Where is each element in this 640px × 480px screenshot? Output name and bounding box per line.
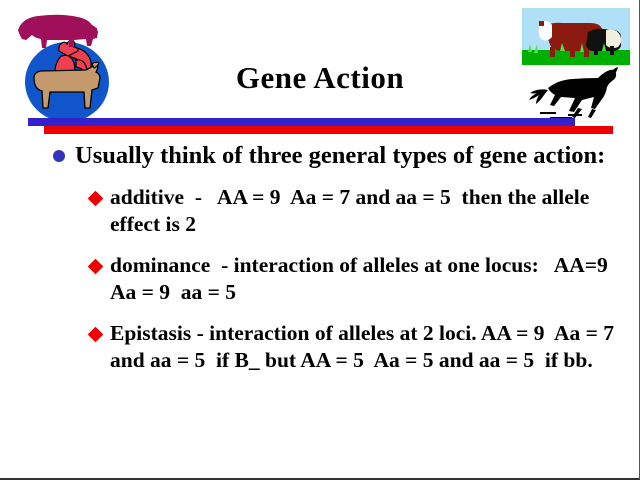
galloping-horse-silhouette — [518, 64, 636, 124]
divider-bar-red — [44, 126, 613, 134]
presentation-slide: Gene Action — [0, 0, 640, 480]
slide-body: Usually think of three general types of … — [0, 136, 640, 480]
disc-bullet-icon — [53, 150, 65, 162]
bullet-level1-item: Usually think of three general types of … — [0, 141, 640, 170]
slide-header: Gene Action — [0, 0, 640, 136]
cattle-pasture-photo — [522, 8, 630, 65]
bullet-level2-text-additive: additive - AA = 9 Aa = 7 and aa = 5 then… — [110, 184, 618, 238]
divider-bar-blue — [28, 118, 575, 126]
bullet-level2-text-epistasis: Epistasis - interaction of alleles at 2 … — [110, 320, 618, 374]
horse-body — [529, 67, 618, 118]
bullet-level1-text: Usually think of three general types of … — [75, 141, 605, 170]
diamond-bullet-icon — [88, 327, 104, 343]
bullet-level2-item-dominance: dominance - interaction of alleles at on… — [0, 252, 640, 306]
diamond-bullet-icon — [88, 191, 104, 207]
bullet-level2-text-dominance: dominance - interaction of alleles at on… — [110, 252, 618, 306]
bullet-level2-item-epistasis: Epistasis - interaction of alleles at 2 … — [0, 320, 640, 374]
diamond-bullet-icon — [88, 259, 104, 275]
bullet-level2-item-additive: additive - AA = 9 Aa = 7 and aa = 5 then… — [0, 184, 640, 238]
pig-ear — [90, 28, 97, 35]
